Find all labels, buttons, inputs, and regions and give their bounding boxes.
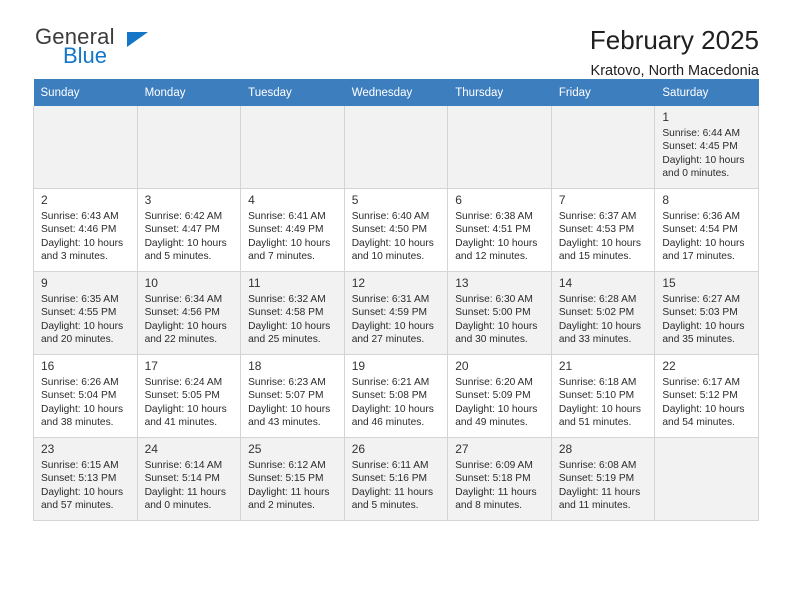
day-details: Sunrise: 6:41 AMSunset: 4:49 PMDaylight:… bbox=[248, 210, 338, 264]
daylight-text: Daylight: 10 hours and 5 minutes. bbox=[145, 237, 235, 264]
day-details: Sunrise: 6:30 AMSunset: 5:00 PMDaylight:… bbox=[455, 293, 545, 347]
calendar-day-cell[interactable]: 21Sunrise: 6:18 AMSunset: 5:10 PMDayligh… bbox=[551, 355, 655, 438]
calendar-day-cell[interactable]: 9Sunrise: 6:35 AMSunset: 4:55 PMDaylight… bbox=[34, 272, 138, 355]
day-number: 25 bbox=[248, 442, 338, 456]
sunrise-text: Sunrise: 6:24 AM bbox=[145, 376, 235, 389]
sunset-text: Sunset: 4:46 PM bbox=[41, 223, 131, 236]
day-details: Sunrise: 6:12 AMSunset: 5:15 PMDaylight:… bbox=[248, 459, 338, 513]
day-details: Sunrise: 6:21 AMSunset: 5:08 PMDaylight:… bbox=[352, 376, 442, 430]
sunset-text: Sunset: 5:12 PM bbox=[662, 389, 752, 402]
column-header-saturday: Saturday bbox=[655, 79, 759, 106]
daylight-text: Daylight: 10 hours and 38 minutes. bbox=[41, 403, 131, 430]
calendar-day-cell-empty bbox=[448, 106, 552, 189]
calendar-day-cell[interactable]: 4Sunrise: 6:41 AMSunset: 4:49 PMDaylight… bbox=[241, 189, 345, 272]
calendar-day-cell[interactable]: 22Sunrise: 6:17 AMSunset: 5:12 PMDayligh… bbox=[655, 355, 759, 438]
day-details: Sunrise: 6:43 AMSunset: 4:46 PMDaylight:… bbox=[41, 210, 131, 264]
day-details: Sunrise: 6:28 AMSunset: 5:02 PMDaylight:… bbox=[559, 293, 649, 347]
column-header-sunday: Sunday bbox=[34, 79, 138, 106]
calendar-day-cell[interactable]: 19Sunrise: 6:21 AMSunset: 5:08 PMDayligh… bbox=[344, 355, 448, 438]
calendar-day-cell[interactable]: 1Sunrise: 6:44 AMSunset: 4:45 PMDaylight… bbox=[655, 106, 759, 189]
calendar-day-cell[interactable]: 7Sunrise: 6:37 AMSunset: 4:53 PMDaylight… bbox=[551, 189, 655, 272]
day-number: 10 bbox=[145, 276, 235, 290]
general-blue-logo[interactable]: General Blue bbox=[33, 26, 153, 72]
sunrise-text: Sunrise: 6:14 AM bbox=[145, 459, 235, 472]
day-number: 17 bbox=[145, 359, 235, 373]
calendar-day-cell[interactable]: 27Sunrise: 6:09 AMSunset: 5:18 PMDayligh… bbox=[448, 438, 552, 521]
sunrise-text: Sunrise: 6:34 AM bbox=[145, 293, 235, 306]
daylight-text: Daylight: 10 hours and 7 minutes. bbox=[248, 237, 338, 264]
day-details: Sunrise: 6:24 AMSunset: 5:05 PMDaylight:… bbox=[145, 376, 235, 430]
sunset-text: Sunset: 5:10 PM bbox=[559, 389, 649, 402]
day-number: 19 bbox=[352, 359, 442, 373]
day-details: Sunrise: 6:26 AMSunset: 5:04 PMDaylight:… bbox=[41, 376, 131, 430]
sunrise-text: Sunrise: 6:44 AM bbox=[662, 127, 752, 140]
day-details: Sunrise: 6:08 AMSunset: 5:19 PMDaylight:… bbox=[559, 459, 649, 513]
daylight-text: Daylight: 10 hours and 27 minutes. bbox=[352, 320, 442, 347]
column-header-tuesday: Tuesday bbox=[241, 79, 345, 106]
daylight-text: Daylight: 10 hours and 17 minutes. bbox=[662, 237, 752, 264]
sunrise-text: Sunrise: 6:41 AM bbox=[248, 210, 338, 223]
calendar-week-row: 9Sunrise: 6:35 AMSunset: 4:55 PMDaylight… bbox=[34, 272, 759, 355]
day-number: 2 bbox=[41, 193, 131, 207]
day-details: Sunrise: 6:34 AMSunset: 4:56 PMDaylight:… bbox=[145, 293, 235, 347]
title-block: February 2025 Kratovo, North Macedonia bbox=[590, 26, 759, 79]
day-number: 4 bbox=[248, 193, 338, 207]
daylight-text: Daylight: 10 hours and 46 minutes. bbox=[352, 403, 442, 430]
calendar-day-cell[interactable]: 24Sunrise: 6:14 AMSunset: 5:14 PMDayligh… bbox=[137, 438, 241, 521]
calendar-week-row: 2Sunrise: 6:43 AMSunset: 4:46 PMDaylight… bbox=[34, 189, 759, 272]
day-number: 9 bbox=[41, 276, 131, 290]
sunrise-text: Sunrise: 6:17 AM bbox=[662, 376, 752, 389]
sunrise-text: Sunrise: 6:40 AM bbox=[352, 210, 442, 223]
calendar-day-cell[interactable]: 23Sunrise: 6:15 AMSunset: 5:13 PMDayligh… bbox=[34, 438, 138, 521]
day-number: 27 bbox=[455, 442, 545, 456]
sunrise-text: Sunrise: 6:43 AM bbox=[41, 210, 131, 223]
sunrise-text: Sunrise: 6:21 AM bbox=[352, 376, 442, 389]
sunset-text: Sunset: 4:56 PM bbox=[145, 306, 235, 319]
daylight-text: Daylight: 11 hours and 5 minutes. bbox=[352, 486, 442, 513]
day-number: 20 bbox=[455, 359, 545, 373]
day-number: 6 bbox=[455, 193, 545, 207]
calendar-day-cell[interactable]: 6Sunrise: 6:38 AMSunset: 4:51 PMDaylight… bbox=[448, 189, 552, 272]
calendar-body: 1Sunrise: 6:44 AMSunset: 4:45 PMDaylight… bbox=[34, 106, 759, 521]
calendar-day-cell[interactable]: 16Sunrise: 6:26 AMSunset: 5:04 PMDayligh… bbox=[34, 355, 138, 438]
sunrise-text: Sunrise: 6:28 AM bbox=[559, 293, 649, 306]
calendar-day-cell[interactable]: 15Sunrise: 6:27 AMSunset: 5:03 PMDayligh… bbox=[655, 272, 759, 355]
day-details: Sunrise: 6:36 AMSunset: 4:54 PMDaylight:… bbox=[662, 210, 752, 264]
sunset-text: Sunset: 5:03 PM bbox=[662, 306, 752, 319]
day-details: Sunrise: 6:14 AMSunset: 5:14 PMDaylight:… bbox=[145, 459, 235, 513]
daylight-text: Daylight: 10 hours and 0 minutes. bbox=[662, 154, 752, 181]
sunrise-text: Sunrise: 6:27 AM bbox=[662, 293, 752, 306]
day-details: Sunrise: 6:37 AMSunset: 4:53 PMDaylight:… bbox=[559, 210, 649, 264]
day-number: 8 bbox=[662, 193, 752, 207]
sunrise-text: Sunrise: 6:42 AM bbox=[145, 210, 235, 223]
sunrise-text: Sunrise: 6:15 AM bbox=[41, 459, 131, 472]
sunset-text: Sunset: 4:59 PM bbox=[352, 306, 442, 319]
weekday-header-row: Sunday Monday Tuesday Wednesday Thursday… bbox=[34, 79, 759, 106]
sunset-text: Sunset: 4:51 PM bbox=[455, 223, 545, 236]
daylight-text: Daylight: 10 hours and 20 minutes. bbox=[41, 320, 131, 347]
daylight-text: Daylight: 10 hours and 22 minutes. bbox=[145, 320, 235, 347]
day-details: Sunrise: 6:35 AMSunset: 4:55 PMDaylight:… bbox=[41, 293, 131, 347]
calendar-day-cell-empty bbox=[241, 106, 345, 189]
daylight-text: Daylight: 10 hours and 43 minutes. bbox=[248, 403, 338, 430]
day-details: Sunrise: 6:42 AMSunset: 4:47 PMDaylight:… bbox=[145, 210, 235, 264]
calendar-table: Sunday Monday Tuesday Wednesday Thursday… bbox=[33, 79, 759, 521]
calendar-day-cell-empty bbox=[551, 106, 655, 189]
sunset-text: Sunset: 5:09 PM bbox=[455, 389, 545, 402]
column-header-monday: Monday bbox=[137, 79, 241, 106]
sunrise-text: Sunrise: 6:38 AM bbox=[455, 210, 545, 223]
sunset-text: Sunset: 4:53 PM bbox=[559, 223, 649, 236]
day-number: 1 bbox=[662, 110, 752, 124]
daylight-text: Daylight: 10 hours and 33 minutes. bbox=[559, 320, 649, 347]
sunrise-text: Sunrise: 6:31 AM bbox=[352, 293, 442, 306]
daylight-text: Daylight: 11 hours and 8 minutes. bbox=[455, 486, 545, 513]
day-details: Sunrise: 6:11 AMSunset: 5:16 PMDaylight:… bbox=[352, 459, 442, 513]
sunrise-text: Sunrise: 6:36 AM bbox=[662, 210, 752, 223]
page-subtitle: Kratovo, North Macedonia bbox=[590, 63, 759, 79]
calendar-day-cell[interactable]: 26Sunrise: 6:11 AMSunset: 5:16 PMDayligh… bbox=[344, 438, 448, 521]
sunset-text: Sunset: 5:07 PM bbox=[248, 389, 338, 402]
calendar-week-row: 16Sunrise: 6:26 AMSunset: 5:04 PMDayligh… bbox=[34, 355, 759, 438]
calendar-day-cell-empty bbox=[137, 106, 241, 189]
calendar-day-cell-empty bbox=[344, 106, 448, 189]
sunset-text: Sunset: 5:05 PM bbox=[145, 389, 235, 402]
sunset-text: Sunset: 5:15 PM bbox=[248, 472, 338, 485]
sunrise-text: Sunrise: 6:26 AM bbox=[41, 376, 131, 389]
day-details: Sunrise: 6:23 AMSunset: 5:07 PMDaylight:… bbox=[248, 376, 338, 430]
sunset-text: Sunset: 5:08 PM bbox=[352, 389, 442, 402]
calendar-day-cell[interactable]: 3Sunrise: 6:42 AMSunset: 4:47 PMDaylight… bbox=[137, 189, 241, 272]
calendar-day-cell[interactable]: 5Sunrise: 6:40 AMSunset: 4:50 PMDaylight… bbox=[344, 189, 448, 272]
day-details: Sunrise: 6:18 AMSunset: 5:10 PMDaylight:… bbox=[559, 376, 649, 430]
sunrise-text: Sunrise: 6:18 AM bbox=[559, 376, 649, 389]
day-number: 13 bbox=[455, 276, 545, 290]
sunset-text: Sunset: 4:49 PM bbox=[248, 223, 338, 236]
triangle-icon bbox=[127, 32, 148, 47]
calendar-day-cell[interactable]: 8Sunrise: 6:36 AMSunset: 4:54 PMDaylight… bbox=[655, 189, 759, 272]
day-number: 11 bbox=[248, 276, 338, 290]
day-details: Sunrise: 6:31 AMSunset: 4:59 PMDaylight:… bbox=[352, 293, 442, 347]
sunset-text: Sunset: 5:13 PM bbox=[41, 472, 131, 485]
sunrise-text: Sunrise: 6:23 AM bbox=[248, 376, 338, 389]
sunrise-text: Sunrise: 6:20 AM bbox=[455, 376, 545, 389]
column-header-friday: Friday bbox=[551, 79, 655, 106]
day-number: 28 bbox=[559, 442, 649, 456]
daylight-text: Daylight: 10 hours and 12 minutes. bbox=[455, 237, 545, 264]
sunrise-text: Sunrise: 6:09 AM bbox=[455, 459, 545, 472]
day-number: 12 bbox=[352, 276, 442, 290]
sunset-text: Sunset: 4:54 PM bbox=[662, 223, 752, 236]
calendar-day-cell[interactable]: 13Sunrise: 6:30 AMSunset: 5:00 PMDayligh… bbox=[448, 272, 552, 355]
calendar-day-cell[interactable]: 10Sunrise: 6:34 AMSunset: 4:56 PMDayligh… bbox=[137, 272, 241, 355]
calendar-page: General Blue February 2025 Kratovo, Nort… bbox=[0, 0, 792, 612]
day-number: 24 bbox=[145, 442, 235, 456]
calendar-day-cell[interactable]: 25Sunrise: 6:12 AMSunset: 5:15 PMDayligh… bbox=[241, 438, 345, 521]
daylight-text: Daylight: 10 hours and 54 minutes. bbox=[662, 403, 752, 430]
daylight-text: Daylight: 11 hours and 0 minutes. bbox=[145, 486, 235, 513]
day-number: 18 bbox=[248, 359, 338, 373]
daylight-text: Daylight: 10 hours and 15 minutes. bbox=[559, 237, 649, 264]
sunset-text: Sunset: 5:19 PM bbox=[559, 472, 649, 485]
day-details: Sunrise: 6:32 AMSunset: 4:58 PMDaylight:… bbox=[248, 293, 338, 347]
calendar-day-cell-empty bbox=[34, 106, 138, 189]
daylight-text: Daylight: 11 hours and 2 minutes. bbox=[248, 486, 338, 513]
sunset-text: Sunset: 4:58 PM bbox=[248, 306, 338, 319]
calendar-day-cell[interactable]: 28Sunrise: 6:08 AMSunset: 5:19 PMDayligh… bbox=[551, 438, 655, 521]
day-number: 15 bbox=[662, 276, 752, 290]
day-number: 22 bbox=[662, 359, 752, 373]
sunrise-text: Sunrise: 6:37 AM bbox=[559, 210, 649, 223]
day-details: Sunrise: 6:17 AMSunset: 5:12 PMDaylight:… bbox=[662, 376, 752, 430]
calendar-week-row: 23Sunrise: 6:15 AMSunset: 5:13 PMDayligh… bbox=[34, 438, 759, 521]
daylight-text: Daylight: 10 hours and 30 minutes. bbox=[455, 320, 545, 347]
sunrise-text: Sunrise: 6:30 AM bbox=[455, 293, 545, 306]
sunset-text: Sunset: 4:55 PM bbox=[41, 306, 131, 319]
day-details: Sunrise: 6:20 AMSunset: 5:09 PMDaylight:… bbox=[455, 376, 545, 430]
sunset-text: Sunset: 5:14 PM bbox=[145, 472, 235, 485]
daylight-text: Daylight: 10 hours and 10 minutes. bbox=[352, 237, 442, 264]
daylight-text: Daylight: 10 hours and 49 minutes. bbox=[455, 403, 545, 430]
sunrise-text: Sunrise: 6:35 AM bbox=[41, 293, 131, 306]
day-details: Sunrise: 6:38 AMSunset: 4:51 PMDaylight:… bbox=[455, 210, 545, 264]
column-header-wednesday: Wednesday bbox=[344, 79, 448, 106]
calendar-day-cell[interactable]: 12Sunrise: 6:31 AMSunset: 4:59 PMDayligh… bbox=[344, 272, 448, 355]
sunset-text: Sunset: 5:04 PM bbox=[41, 389, 131, 402]
day-number: 21 bbox=[559, 359, 649, 373]
day-number: 26 bbox=[352, 442, 442, 456]
sunset-text: Sunset: 5:00 PM bbox=[455, 306, 545, 319]
daylight-text: Daylight: 11 hours and 11 minutes. bbox=[559, 486, 649, 513]
daylight-text: Daylight: 10 hours and 25 minutes. bbox=[248, 320, 338, 347]
sunset-text: Sunset: 4:47 PM bbox=[145, 223, 235, 236]
daylight-text: Daylight: 10 hours and 3 minutes. bbox=[41, 237, 131, 264]
daylight-text: Daylight: 10 hours and 41 minutes. bbox=[145, 403, 235, 430]
sunrise-text: Sunrise: 6:08 AM bbox=[559, 459, 649, 472]
calendar-week-row: 1Sunrise: 6:44 AMSunset: 4:45 PMDaylight… bbox=[34, 106, 759, 189]
day-details: Sunrise: 6:27 AMSunset: 5:03 PMDaylight:… bbox=[662, 293, 752, 347]
page-header: General Blue February 2025 Kratovo, Nort… bbox=[33, 0, 759, 75]
day-number: 3 bbox=[145, 193, 235, 207]
sunset-text: Sunset: 4:50 PM bbox=[352, 223, 442, 236]
day-details: Sunrise: 6:15 AMSunset: 5:13 PMDaylight:… bbox=[41, 459, 131, 513]
calendar-day-cell[interactable]: 20Sunrise: 6:20 AMSunset: 5:09 PMDayligh… bbox=[448, 355, 552, 438]
sunrise-text: Sunrise: 6:12 AM bbox=[248, 459, 338, 472]
day-details: Sunrise: 6:44 AMSunset: 4:45 PMDaylight:… bbox=[662, 127, 752, 181]
day-number: 14 bbox=[559, 276, 649, 290]
day-details: Sunrise: 6:09 AMSunset: 5:18 PMDaylight:… bbox=[455, 459, 545, 513]
day-number: 5 bbox=[352, 193, 442, 207]
calendar-day-cell[interactable]: 14Sunrise: 6:28 AMSunset: 5:02 PMDayligh… bbox=[551, 272, 655, 355]
sunset-text: Sunset: 4:45 PM bbox=[662, 140, 752, 153]
day-number: 16 bbox=[41, 359, 131, 373]
calendar-day-cell[interactable]: 2Sunrise: 6:43 AMSunset: 4:46 PMDaylight… bbox=[34, 189, 138, 272]
sunset-text: Sunset: 5:18 PM bbox=[455, 472, 545, 485]
daylight-text: Daylight: 10 hours and 35 minutes. bbox=[662, 320, 752, 347]
day-details: Sunrise: 6:40 AMSunset: 4:50 PMDaylight:… bbox=[352, 210, 442, 264]
calendar-day-cell[interactable]: 18Sunrise: 6:23 AMSunset: 5:07 PMDayligh… bbox=[241, 355, 345, 438]
day-number: 7 bbox=[559, 193, 649, 207]
sunrise-text: Sunrise: 6:32 AM bbox=[248, 293, 338, 306]
calendar-day-cell-empty bbox=[655, 438, 759, 521]
page-title: February 2025 bbox=[590, 26, 759, 56]
column-header-thursday: Thursday bbox=[448, 79, 552, 106]
daylight-text: Daylight: 10 hours and 51 minutes. bbox=[559, 403, 649, 430]
calendar-day-cell[interactable]: 17Sunrise: 6:24 AMSunset: 5:05 PMDayligh… bbox=[137, 355, 241, 438]
calendar-day-cell[interactable]: 11Sunrise: 6:32 AMSunset: 4:58 PMDayligh… bbox=[241, 272, 345, 355]
sunset-text: Sunset: 5:02 PM bbox=[559, 306, 649, 319]
day-number: 23 bbox=[41, 442, 131, 456]
daylight-text: Daylight: 10 hours and 57 minutes. bbox=[41, 486, 131, 513]
sunset-text: Sunset: 5:16 PM bbox=[352, 472, 442, 485]
sunrise-text: Sunrise: 6:11 AM bbox=[352, 459, 442, 472]
